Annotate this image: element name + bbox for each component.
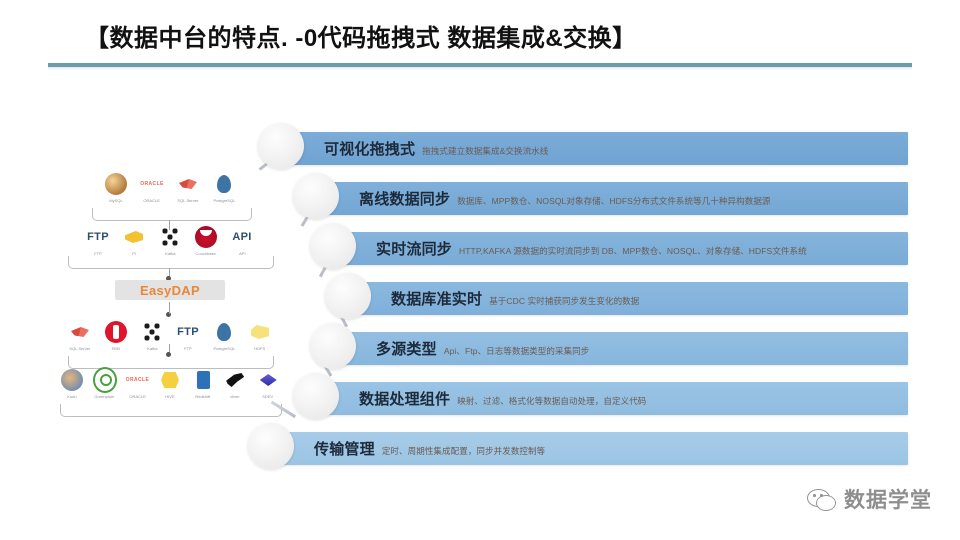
feature-title: 实时流同步 <box>376 238 452 259</box>
feature-step[interactable]: 实时流同步HTTP,KAFKA 源数据的实时流同步到 DB、MPP数仓、NOSQ… <box>248 232 908 265</box>
feature-bar-text: 离线数据同步数据库、MPP数仓、NOSQL对象存储、HDFS分布式文件系统等几十… <box>313 188 771 209</box>
feature-title: 可视化拖拽式 <box>324 138 415 159</box>
diagram-bracket-2 <box>68 256 274 269</box>
feature-step[interactable]: 多源类型Api、Ftp、日志等数据类型的采集同步 <box>248 332 908 365</box>
target-node-tidb: TiDB <box>98 320 134 351</box>
target-node-redshift: Redshift <box>186 368 219 399</box>
target-node-sqlserver: SQL Server <box>62 320 98 351</box>
feature-step-circle <box>258 123 304 169</box>
feature-bar-text: 可视化拖拽式拖拽式建立数据集成&交换流水线 <box>278 138 548 159</box>
diagram-bracket-1 <box>92 208 252 221</box>
feature-step-circle <box>325 273 371 319</box>
feature-description: 基于CDC 实时捕获同步发生变化的数据 <box>489 295 639 307</box>
feature-description: 拖拽式建立数据集成&交换流水线 <box>422 145 548 157</box>
sqlserver-logo <box>176 172 200 196</box>
target-node-clickhouse: cliver <box>219 368 252 399</box>
watermark-label: 数据学堂 <box>844 484 932 514</box>
feature-step-circle <box>310 223 356 269</box>
node-label: cliver <box>230 394 239 399</box>
node-label: TiDB <box>112 346 121 351</box>
slide-canvas: 【数据中台的特点. -0代码拖拽式 数据集成&交换】 MySQL ORACLE … <box>0 0 960 540</box>
feature-bar[interactable]: 离线数据同步数据库、MPP数仓、NOSQL对象存储、HDFS分布式文件系统等几十… <box>313 182 908 215</box>
source-node-ftp: FTP FTP <box>80 225 116 256</box>
target-node-greenplum: Greenplum <box>89 368 122 399</box>
feature-title: 数据处理组件 <box>359 388 450 409</box>
feature-step[interactable]: 数据处理组件映射、过滤、格式化等数据自动处理，自定义代码 <box>248 382 908 415</box>
node-label: ORACLE <box>129 394 146 399</box>
oracle-logo: ORACLE <box>125 368 149 392</box>
page-title: 【数据中台的特点. -0代码拖拽式 数据集成&交换】 <box>85 18 637 53</box>
node-label: Greenplum <box>95 394 115 399</box>
feature-description: 数据库、MPP数仓、NOSQL对象存储、HDFS分布式文件系统等几十种异构数据源 <box>457 195 770 207</box>
watermark: 数据学堂 <box>802 484 932 514</box>
feature-description: 定时、周期性集成配置，同步并发数控制等 <box>382 445 545 457</box>
target-node-ftp: FTP FTP <box>170 320 206 351</box>
feature-step-circle <box>293 373 339 419</box>
source-node-oracle: ORACLE ORACLE <box>134 172 170 203</box>
node-label: Kafka <box>147 346 157 351</box>
node-label: SQL Server <box>70 346 91 351</box>
target-node-hive: HIVE <box>154 368 187 399</box>
target-node-kudu: Kudu <box>56 368 89 399</box>
oracle-logo: ORACLE <box>140 172 164 196</box>
wechat-icon <box>802 485 836 513</box>
greenplum-logo <box>93 368 117 392</box>
tidb-logo <box>104 320 128 344</box>
feature-title: 数据库准实时 <box>391 288 482 309</box>
node-label: PostgreSQL <box>213 346 235 351</box>
source-node-postgresql: PostgreSQL <box>206 172 242 203</box>
target-node-oracle: ORACLE ORACLE <box>121 368 154 399</box>
feature-title: 离线数据同步 <box>359 188 450 209</box>
hive-logo <box>158 368 182 392</box>
feature-bar[interactable]: 实时流同步HTTP,KAFKA 源数据的实时流同步到 DB、MPP数仓、NOSQ… <box>330 232 908 265</box>
feature-title: 传输管理 <box>314 438 375 459</box>
node-label: HIVE <box>165 394 174 399</box>
node-label: Redshift <box>195 394 210 399</box>
feature-bar-text: 数据处理组件映射、过滤、格式化等数据自动处理，自定义代码 <box>313 388 646 409</box>
title-divider-shadow <box>48 67 912 70</box>
source-node-pi: PI <box>116 225 152 256</box>
clickhouse-logo <box>223 368 247 392</box>
node-label: SQL Server <box>178 198 199 203</box>
source-node-couchbase: Couchbase <box>188 225 224 256</box>
redshift-logo <box>191 368 215 392</box>
feature-description: 映射、过滤、格式化等数据自动处理，自定义代码 <box>457 395 646 407</box>
kudu-logo <box>60 368 84 392</box>
feature-step-circle <box>248 423 294 469</box>
mysql-logo <box>104 172 128 196</box>
feature-step[interactable]: 数据库准实时基于CDC 实时捕获同步发生变化的数据 <box>248 282 908 315</box>
source-node-sqlserver: SQL Server <box>170 172 206 203</box>
feature-bar-text: 数据库准实时基于CDC 实时捕获同步发生变化的数据 <box>345 288 639 309</box>
feature-step[interactable]: 可视化拖拽式拖拽式建立数据集成&交换流水线 <box>248 132 908 165</box>
couchbase-logo <box>194 225 218 249</box>
target-node-kafka: Kafka <box>134 320 170 351</box>
feature-step[interactable]: 离线数据同步数据库、MPP数仓、NOSQL对象存储、HDFS分布式文件系统等几十… <box>248 182 908 215</box>
feature-bar[interactable]: 数据库准实时基于CDC 实时捕获同步发生变化的数据 <box>345 282 908 315</box>
sqlserver-logo <box>68 320 92 344</box>
feature-step[interactable]: 传输管理定时、周期性集成配置，同步并发数控制等 <box>248 432 908 465</box>
feature-bar-text: 多源类型Api、Ftp、日志等数据类型的采集同步 <box>330 338 589 359</box>
node-label: PostgreSQL <box>213 198 235 203</box>
feature-bar[interactable]: 多源类型Api、Ftp、日志等数据类型的采集同步 <box>330 332 908 365</box>
feature-bar-text: 传输管理定时、周期性集成配置，同步并发数控制等 <box>268 438 545 459</box>
feature-bar[interactable]: 数据处理组件映射、过滤、格式化等数据自动处理，自定义代码 <box>313 382 908 415</box>
target-node-postgresql: PostgreSQL <box>206 320 242 351</box>
ftp-icon: FTP <box>86 225 110 249</box>
postgresql-logo <box>212 172 236 196</box>
feature-title: 多源类型 <box>376 338 437 359</box>
node-label: FTP <box>184 346 192 351</box>
node-label: Kudu <box>68 394 77 399</box>
postgresql-logo <box>212 320 236 344</box>
kafka-logo <box>140 320 164 344</box>
feature-step-chart: 可视化拖拽式拖拽式建立数据集成&交换流水线离线数据同步数据库、MPP数仓、NOS… <box>248 118 908 468</box>
node-label: ORACLE <box>144 198 161 203</box>
feature-bar[interactable]: 传输管理定时、周期性集成配置，同步并发数控制等 <box>268 432 908 465</box>
kafka-logo <box>158 225 182 249</box>
feature-step-circle <box>310 323 356 369</box>
pi-logo <box>122 225 146 249</box>
feature-bar[interactable]: 可视化拖拽式拖拽式建立数据集成&交换流水线 <box>278 132 908 165</box>
diagram-stem-3 <box>169 302 170 314</box>
easydap-badge: EasyDAP <box>115 280 225 300</box>
source-node-kafka: Kafka <box>152 225 188 256</box>
ftp-icon: FTP <box>176 320 200 344</box>
feature-step-circle <box>293 173 339 219</box>
diagram-junction-dot <box>166 352 171 357</box>
node-label: MySQL <box>109 198 122 203</box>
feature-bar-text: 实时流同步HTTP,KAFKA 源数据的实时流同步到 DB、MPP数仓、NOSQ… <box>330 238 807 259</box>
feature-description: Api、Ftp、日志等数据类型的采集同步 <box>444 345 590 357</box>
source-node-mysql: MySQL <box>98 172 134 203</box>
feature-description: HTTP,KAFKA 源数据的实时流同步到 DB、MPP数仓、NOSQL、对象存… <box>459 245 807 257</box>
